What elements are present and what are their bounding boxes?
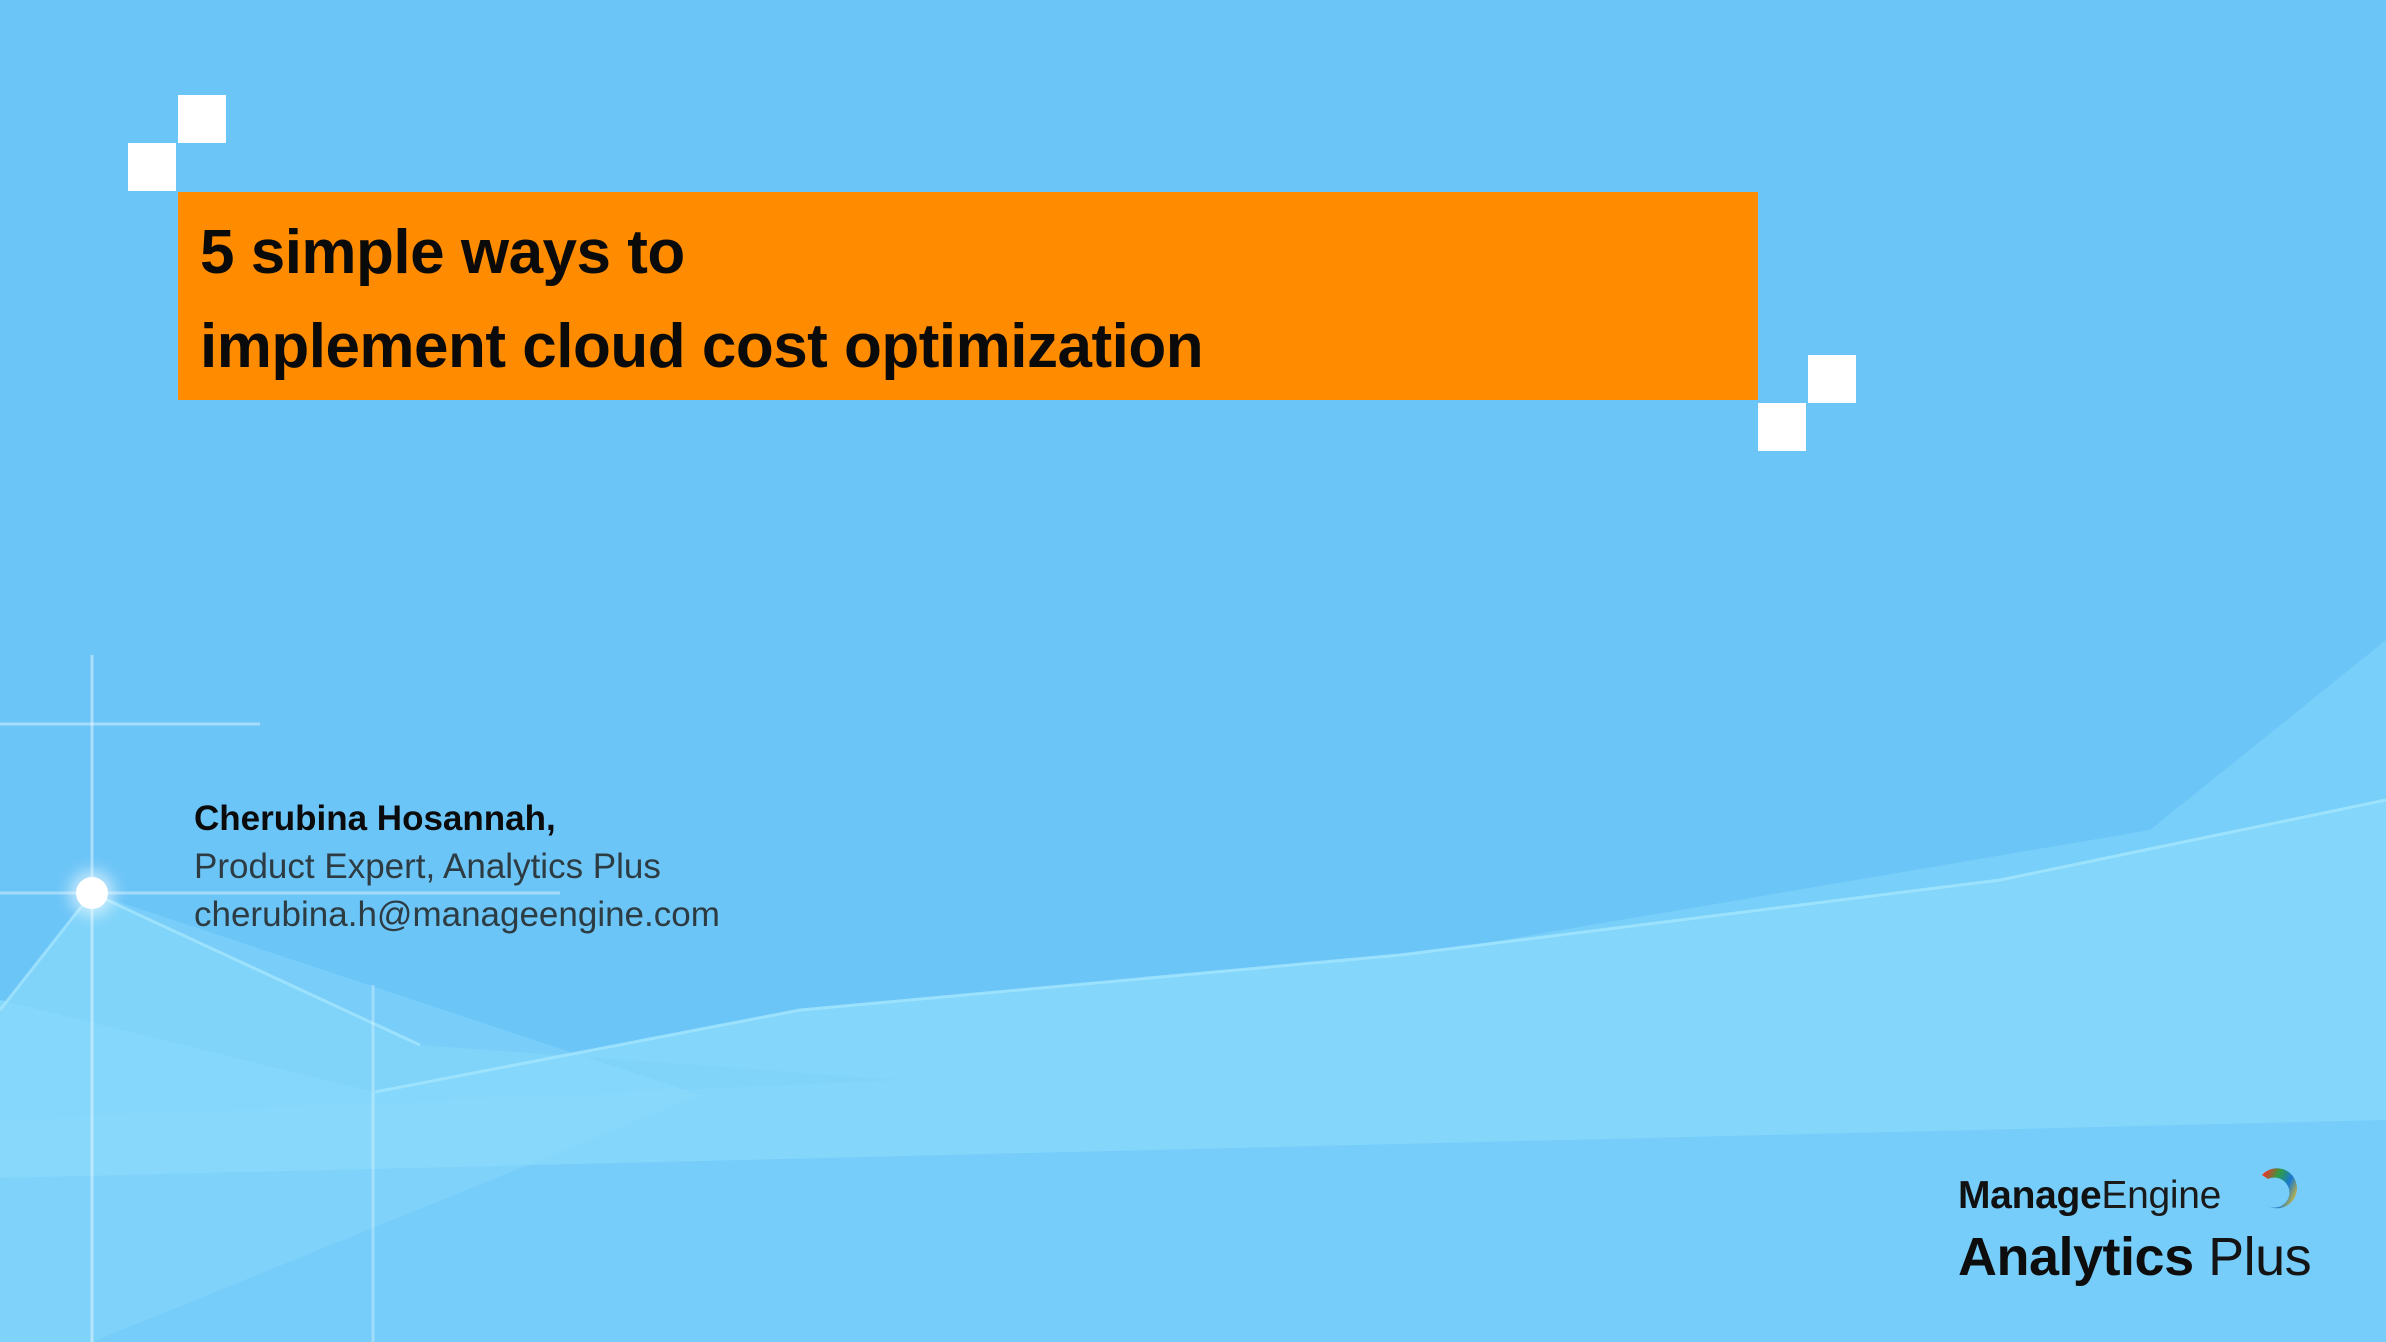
square-top-right-lower [1758, 403, 1806, 451]
brand-manage-text: Manage [1958, 1174, 2101, 1217]
glow-dot [76, 877, 108, 909]
square-top-right-upper [1808, 355, 1856, 403]
speaker-info: Cherubina Hosannah, Product Expert, Anal… [194, 795, 1094, 939]
presentation-slide: 5 simple ways to implement cloud cost op… [0, 0, 2386, 1342]
square-top-left-lower [128, 143, 176, 191]
product-analytics-text: Analytics [1958, 1227, 2194, 1287]
title-band: 5 simple ways to implement cloud cost op… [178, 192, 1758, 400]
title-line-1: 5 simple ways to [200, 206, 1758, 300]
title-line-2: implement cloud cost optimization [200, 300, 1758, 394]
brand-name-row: ManageEngine [1958, 1168, 2348, 1224]
speaker-email: cherubina.h@manageengine.com [194, 891, 1094, 939]
speaker-role: Product Expert, Analytics Plus [194, 843, 1094, 891]
speaker-name: Cherubina Hosannah, [194, 795, 1094, 843]
manageengine-analytics-plus-logo: ManageEngine Analytics Plus [1958, 1168, 2348, 1302]
product-plus-text: Plus [2194, 1227, 2312, 1287]
brand-engine-text: Engine [2101, 1174, 2221, 1217]
product-name-row: Analytics Plus [1958, 1226, 2348, 1302]
manageengine-swoosh-icon [2250, 1160, 2306, 1216]
square-top-left-upper [178, 95, 226, 143]
